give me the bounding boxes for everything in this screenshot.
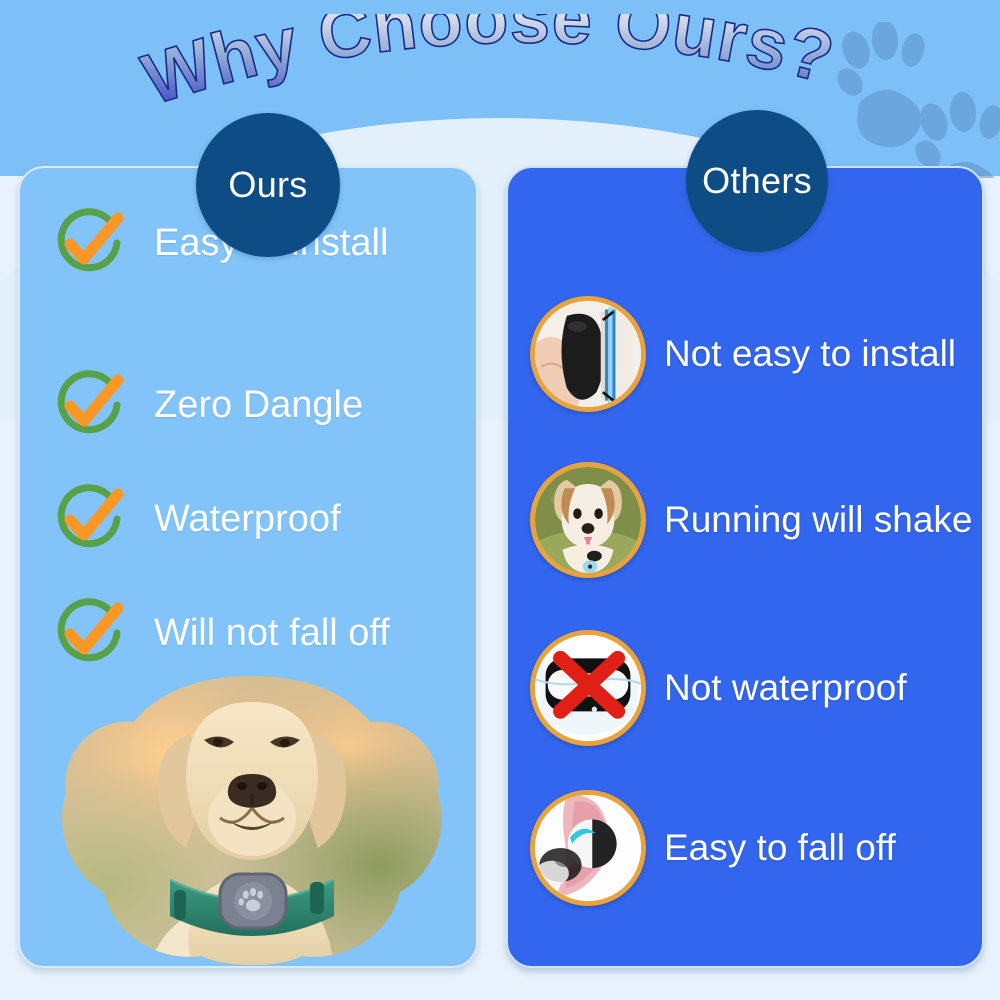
badge-ours-label: Ours	[228, 164, 307, 206]
labrador-with-collar-tracker-photo	[52, 668, 452, 968]
other-row-1: Not easy to install	[530, 296, 956, 412]
others-panel: Not easy to install	[506, 166, 984, 968]
comparison-infographic: Why Choose Ours? Easy to install Zero Da…	[0, 0, 1000, 1000]
other-row-4: Easy to fall off	[530, 790, 896, 906]
check-circle-icon	[50, 204, 128, 282]
svg-text:Why Choose Ours?: Why Choose Ours?	[134, 14, 842, 120]
feature-label: Zero Dangle	[154, 384, 363, 427]
papillon-puppy-with-tag-photo	[530, 462, 646, 578]
badge-others[interactable]: Others	[686, 110, 828, 252]
badge-others-label: Others	[702, 160, 812, 202]
other-label: Not easy to install	[664, 333, 956, 375]
feature-row-4: Will not fall off	[50, 594, 390, 672]
other-label: Not waterproof	[664, 667, 907, 709]
feature-row-2: Zero Dangle	[50, 366, 363, 444]
feature-row-3: Waterproof	[50, 480, 341, 558]
pink-case-tracker-falling-out-photo	[530, 790, 646, 906]
check-circle-icon	[50, 594, 128, 672]
other-label: Easy to fall off	[664, 827, 896, 869]
page-title-text: Why Choose Ours?	[134, 14, 842, 120]
tracker-in-water-crossed-out-photo	[530, 630, 646, 746]
other-row-2: Running will shake	[530, 462, 973, 578]
badge-ours[interactable]: Ours	[196, 113, 340, 257]
feature-label: Will not fall off	[154, 612, 390, 655]
other-row-3: Not waterproof	[530, 630, 907, 746]
other-label: Running will shake	[664, 499, 973, 541]
hand-holding-black-tracker-photo	[530, 296, 646, 412]
feature-label: Waterproof	[154, 498, 341, 541]
page-title: Why Choose Ours?	[100, 14, 880, 124]
check-circle-icon	[50, 366, 128, 444]
check-circle-icon	[50, 480, 128, 558]
